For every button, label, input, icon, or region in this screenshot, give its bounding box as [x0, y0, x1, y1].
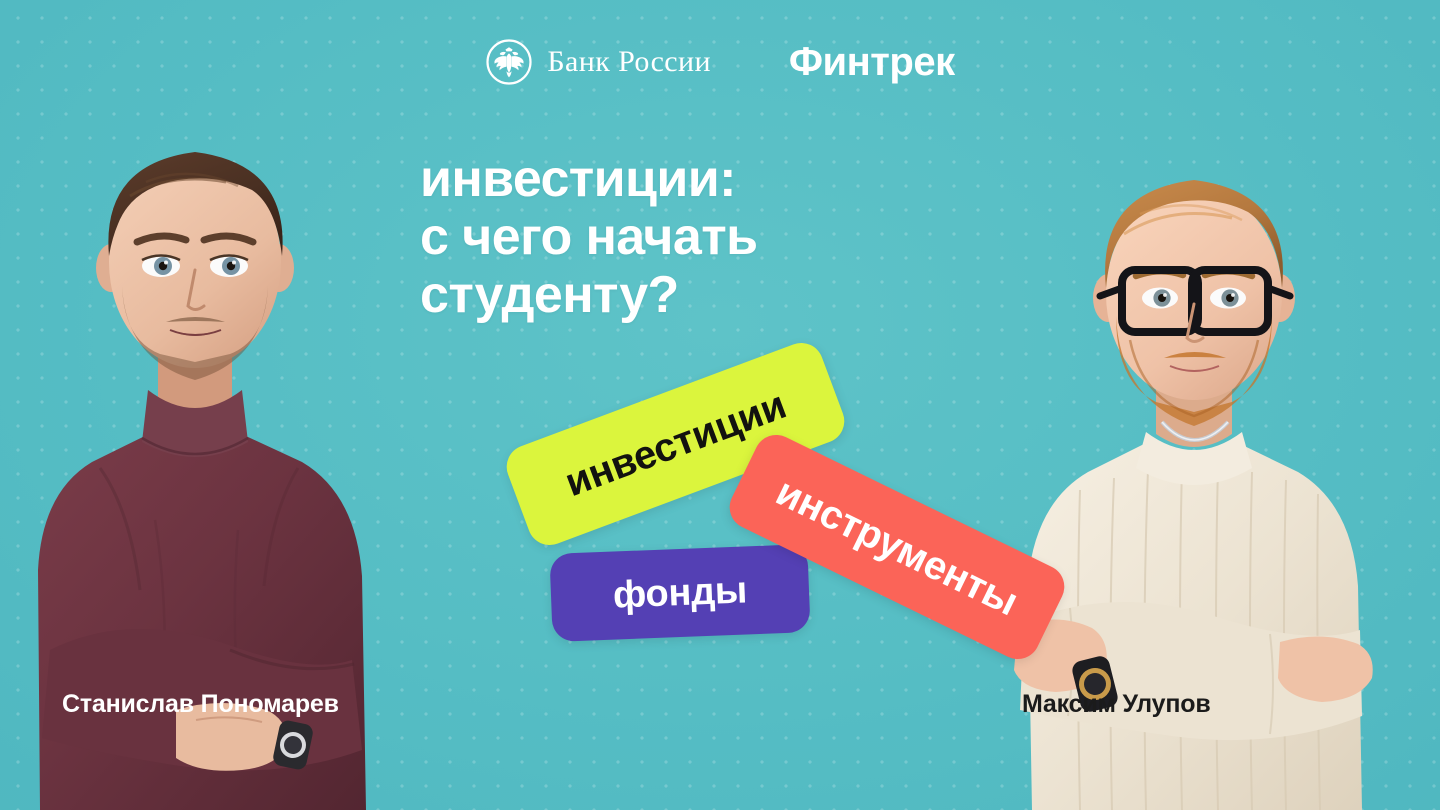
title-line-2: с чего начать	[420, 208, 757, 266]
double-headed-eagle-icon	[485, 38, 533, 86]
banner-canvas: Банк России Финтрек инвестиции: с чего н…	[0, 0, 1440, 810]
title-line-3: студенту?	[420, 266, 757, 324]
bank-of-russia-label: Банк России	[547, 45, 711, 79]
speaker-name-right: Максим Улупов	[1022, 690, 1211, 719]
keyword-tag-funds: фонды	[549, 544, 810, 642]
fintrek-logo[interactable]: Финтрек	[789, 40, 955, 85]
header-logos: Банк России Финтрек	[0, 38, 1440, 86]
title-line-1: инвестиции:	[420, 150, 757, 208]
banner-title: инвестиции: с чего начать студенту?	[420, 150, 757, 325]
speaker-name-left: Станислав Пономарев	[62, 690, 339, 719]
bank-of-russia-logo[interactable]: Банк России	[485, 38, 711, 86]
